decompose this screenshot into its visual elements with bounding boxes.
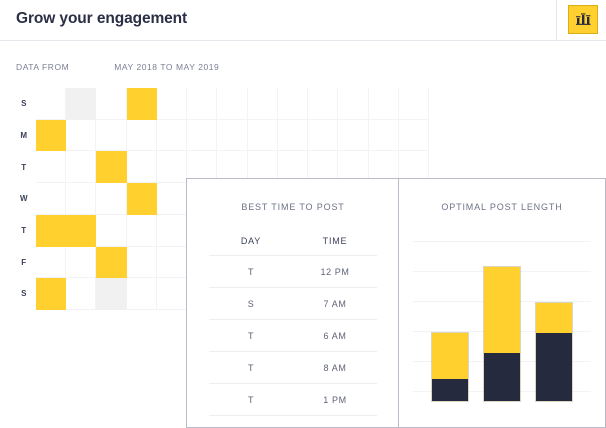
heatmap-cell[interactable] xyxy=(157,278,187,310)
bar-chart-icon xyxy=(575,12,592,27)
heatmap-cell[interactable] xyxy=(36,120,66,152)
table-cell: T xyxy=(209,363,293,373)
heatmap-cell[interactable] xyxy=(96,215,126,247)
bar-chart-plot xyxy=(413,247,591,401)
heatmap-cell[interactable] xyxy=(66,183,96,215)
heatmap-cell[interactable] xyxy=(36,151,66,183)
bar-chart-icon-button[interactable] xyxy=(568,5,598,34)
heatmap-cell[interactable] xyxy=(66,247,96,279)
best-time-panel-title: BEST TIME TO POST xyxy=(187,202,399,212)
heatmap-cell[interactable] xyxy=(66,215,96,247)
data-from-label: DATA FROM xyxy=(16,62,69,72)
heatmap-cell[interactable] xyxy=(96,88,126,120)
engagement-dashboard: Grow your engagement DATA FROM MAY 2018 … xyxy=(0,0,606,428)
header-divider xyxy=(556,0,557,41)
heatmap-cell[interactable] xyxy=(127,247,157,279)
heatmap-cell[interactable] xyxy=(157,88,187,120)
table-cell: T xyxy=(209,331,293,341)
heatmap-day-label: M xyxy=(12,120,36,152)
bar-segment-yellow xyxy=(432,333,468,379)
table-cell: T xyxy=(209,395,293,405)
optimal-length-panel-title: OPTIMAL POST LENGTH xyxy=(399,202,605,212)
bar-segment-dark xyxy=(432,379,468,401)
heatmap-cell[interactable] xyxy=(96,278,126,310)
heatmap-cell[interactable] xyxy=(96,183,126,215)
heatmap-cell[interactable] xyxy=(399,120,429,152)
table-cell: S xyxy=(209,299,293,309)
heatmap-day-label: S xyxy=(12,88,36,120)
heatmap-cell[interactable] xyxy=(127,278,157,310)
heatmap-cell[interactable] xyxy=(157,183,187,215)
heatmap-cell[interactable] xyxy=(338,88,368,120)
table-column-header: TIME xyxy=(293,236,377,246)
table-column-header: DAY xyxy=(209,236,293,246)
best-time-to-post-panel: BEST TIME TO POST DAYTIMET12 PMS7 AMT6 A… xyxy=(186,178,399,428)
heatmap-day-label: F xyxy=(12,246,36,278)
bar-segment-yellow xyxy=(484,267,520,353)
heatmap-cell[interactable] xyxy=(36,247,66,279)
heatmap-day-label: T xyxy=(12,215,36,247)
heatmap-cell[interactable] xyxy=(36,215,66,247)
heatmap-day-label: T xyxy=(12,151,36,183)
data-from-range[interactable]: MAY 2018 TO MAY 2019 xyxy=(114,62,219,72)
heatmap-cell[interactable] xyxy=(36,88,66,120)
page-title: Grow your engagement xyxy=(16,10,187,28)
heatmap-cell[interactable] xyxy=(96,247,126,279)
heatmap-cell[interactable] xyxy=(127,120,157,152)
table-cell: 7 AM xyxy=(293,299,377,309)
optimal-length-bar-chart xyxy=(413,227,591,413)
heatmap-cell[interactable] xyxy=(308,120,338,152)
heatmap-cell[interactable] xyxy=(248,88,278,120)
heatmap-cell[interactable] xyxy=(278,120,308,152)
heatmap-cell[interactable] xyxy=(399,88,429,120)
table-row[interactable]: T6 AM xyxy=(209,319,377,351)
heatmap-cell[interactable] xyxy=(157,247,187,279)
bar-segment-dark xyxy=(536,333,572,401)
heatmap-cell[interactable] xyxy=(96,151,126,183)
bar-chart-bar[interactable] xyxy=(536,303,572,401)
heatmap-cell[interactable] xyxy=(66,120,96,152)
heatmap-cell[interactable] xyxy=(66,151,96,183)
table-cell: 1 PM xyxy=(293,395,377,405)
table-row[interactable]: T8 AM xyxy=(209,351,377,383)
heatmap-cell[interactable] xyxy=(369,88,399,120)
heatmap-cell[interactable] xyxy=(217,88,247,120)
table-row[interactable]: T12 PM xyxy=(209,255,377,287)
app-header: Grow your engagement xyxy=(0,0,606,41)
heatmap-day-label: W xyxy=(12,183,36,215)
heatmap-cell[interactable] xyxy=(217,120,247,152)
heatmap-cell[interactable] xyxy=(187,88,217,120)
table-cell: 8 AM xyxy=(293,363,377,373)
heatmap-cell[interactable] xyxy=(338,120,368,152)
table-cell: 12 PM xyxy=(293,267,377,277)
data-range-row: DATA FROM MAY 2018 TO MAY 2019 xyxy=(16,62,219,72)
table-cell: 6 AM xyxy=(293,331,377,341)
heatmap-cell[interactable] xyxy=(127,88,157,120)
table-row[interactable]: T1 PM xyxy=(209,383,377,415)
heatmap-cell[interactable] xyxy=(36,183,66,215)
table-bottom-divider xyxy=(209,415,377,417)
bar-chart-bar[interactable] xyxy=(432,333,468,401)
bar-segment-yellow xyxy=(536,303,572,333)
bar-chart-gridline xyxy=(413,241,591,242)
heatmap-cell[interactable] xyxy=(36,278,66,310)
best-time-table: DAYTIMET12 PMS7 AMT6 AMT8 AMT1 PM xyxy=(209,227,377,417)
heatmap-cell[interactable] xyxy=(157,151,187,183)
heatmap-cell[interactable] xyxy=(127,183,157,215)
bar-segment-dark xyxy=(484,353,520,401)
heatmap-cell[interactable] xyxy=(66,88,96,120)
heatmap-day-labels: SMTWTFS xyxy=(12,88,36,310)
heatmap-cell[interactable] xyxy=(248,120,278,152)
heatmap-cell[interactable] xyxy=(127,151,157,183)
optimal-post-length-panel: OPTIMAL POST LENGTH xyxy=(398,178,606,428)
heatmap-cell[interactable] xyxy=(278,88,308,120)
heatmap-cell[interactable] xyxy=(308,88,338,120)
bar-chart-bar[interactable] xyxy=(484,267,520,401)
table-cell: T xyxy=(209,267,293,277)
heatmap-cell[interactable] xyxy=(157,215,187,247)
heatmap-cell[interactable] xyxy=(96,120,126,152)
heatmap-cell[interactable] xyxy=(369,120,399,152)
heatmap-cell[interactable] xyxy=(66,278,96,310)
heatmap-cell[interactable] xyxy=(157,120,187,152)
table-header-row: DAYTIME xyxy=(209,227,377,255)
table-row[interactable]: S7 AM xyxy=(209,287,377,319)
heatmap-cell[interactable] xyxy=(127,215,157,247)
heatmap-cell[interactable] xyxy=(187,120,217,152)
heatmap-day-label: S xyxy=(12,278,36,310)
